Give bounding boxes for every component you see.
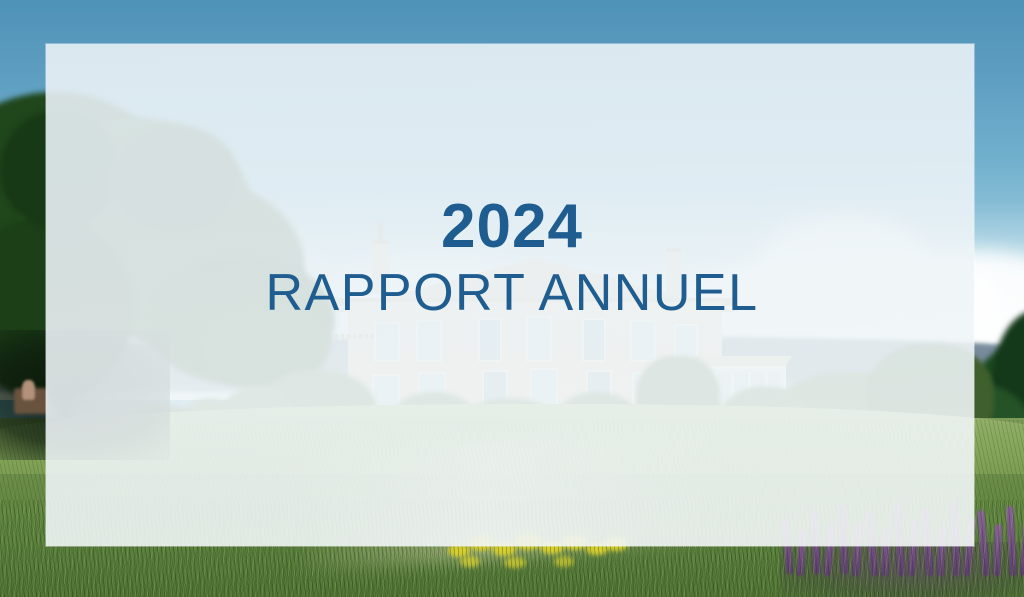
person-silhouette (22, 380, 35, 400)
page-title: RAPPORT ANNUEL (0, 267, 1024, 319)
cover-year: 2024 (0, 196, 1024, 258)
report-cover-page: 2024 RAPPORT ANNUEL (0, 0, 1024, 597)
cover-title-block: 2024 RAPPORT ANNUEL (0, 196, 1024, 319)
